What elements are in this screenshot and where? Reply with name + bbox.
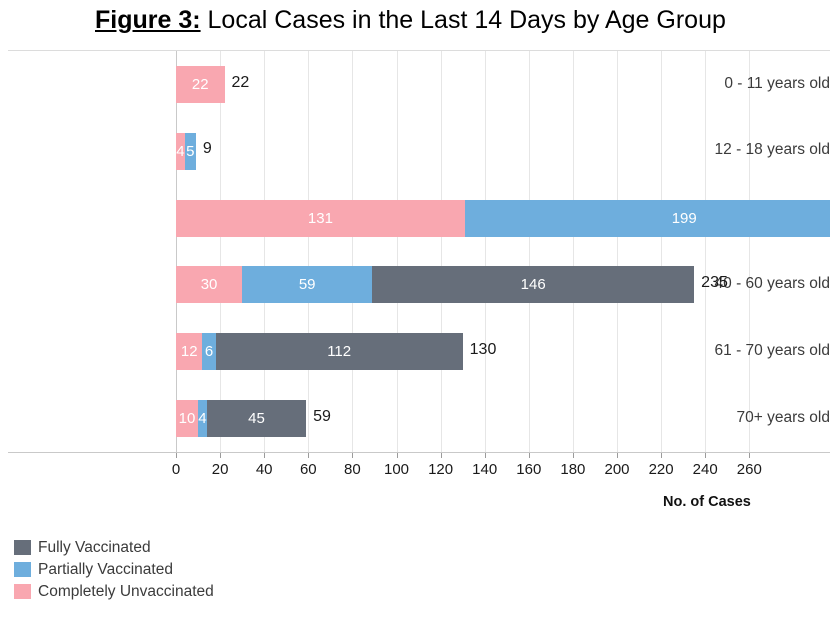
chart-title-figure-number: Figure 3:: [95, 6, 201, 34]
x-axis-line: [8, 452, 830, 453]
bar-segment-partially-vaccinated[interactable]: 4: [198, 400, 207, 437]
bar-segment-fully-vaccinated[interactable]: 112: [216, 333, 463, 370]
bar-segment-value-label: 146: [521, 276, 546, 293]
bar-segment-value-label: 131: [308, 210, 333, 227]
x-axis-tick: [705, 453, 706, 458]
gridline: [749, 51, 750, 452]
x-axis-tick-label: 20: [195, 461, 245, 478]
bar-segment-completely-unvaccinated[interactable]: 22: [176, 66, 225, 103]
x-axis-tick-label: 40: [239, 461, 289, 478]
legend-item-completely-unvaccinated[interactable]: Completely Unvaccinated: [14, 581, 214, 602]
x-axis-tick-label: 220: [636, 461, 686, 478]
x-axis-tick-label: 120: [416, 461, 466, 478]
bar-segment-completely-unvaccinated[interactable]: 12: [176, 333, 202, 370]
bar-segment-value-label: 112: [327, 343, 351, 360]
gridline: [308, 51, 309, 452]
bar-segment-value-label: 30: [201, 276, 218, 293]
x-axis-tick-label: 80: [327, 461, 377, 478]
chart-title: Figure 3: Local Cases in the Last 14 Day…: [95, 4, 830, 36]
bar-segment-value-label: 4: [176, 143, 184, 160]
x-axis-tick: [308, 453, 309, 458]
bar-segment-value-label: 199: [672, 210, 697, 227]
gridline: [264, 51, 265, 452]
legend-swatch-partially-vaccinated: [14, 562, 31, 577]
chart-figure: Figure 3: Local Cases in the Last 14 Day…: [0, 0, 830, 622]
x-axis-tick-label: 200: [592, 461, 642, 478]
x-axis-tick: [220, 453, 221, 458]
bar-segment-fully-vaccinated[interactable]: 45: [207, 400, 306, 437]
bar-segment-value-label: 59: [299, 276, 316, 293]
bar-segment-value-label: 6: [205, 343, 213, 360]
legend-label-completely-unvaccinated: Completely Unvaccinated: [38, 583, 214, 601]
bar-total-label: 59: [313, 408, 331, 426]
bar-row: 459: [0, 133, 830, 170]
bar-segment-fully-vaccinated[interactable]: 146: [372, 266, 694, 303]
x-axis-tick: [661, 453, 662, 458]
legend-swatch-fully-vaccinated: [14, 540, 31, 555]
x-axis-tick: [352, 453, 353, 458]
bar-segment-value-label: 4: [198, 410, 206, 427]
bar-total-label: 22: [232, 74, 250, 92]
bar-total-label: 235: [701, 274, 728, 292]
x-axis-tick: [749, 453, 750, 458]
bar-row: 3059146235: [0, 266, 830, 303]
bar-segment-completely-unvaccinated[interactable]: 131: [176, 200, 465, 237]
x-axis-tick-label: 100: [372, 461, 422, 478]
gridline: [573, 51, 574, 452]
gridline: [617, 51, 618, 452]
gridline: [441, 51, 442, 452]
chart-title-text: Local Cases in the Last 14 Days by Age G…: [201, 6, 726, 34]
gridline: [352, 51, 353, 452]
x-axis-tick: [397, 453, 398, 458]
bar-segment-value-label: 45: [248, 410, 265, 427]
bar-total-label: 130: [470, 341, 497, 359]
x-axis-tick-label: 140: [460, 461, 510, 478]
bar-segment-partially-vaccinated[interactable]: 5: [185, 133, 196, 170]
legend: Fully Vaccinated Partially Vaccinated Co…: [14, 537, 214, 603]
x-axis-tick-label: 60: [283, 461, 333, 478]
legend-label-partially-vaccinated: Partially Vaccinated: [38, 561, 173, 579]
bar-row: 1044559: [0, 400, 830, 437]
x-axis-tick-label: 160: [504, 461, 554, 478]
x-axis-tick: [176, 453, 177, 458]
bar-total-label: 9: [203, 140, 212, 158]
bar-row: 131199: [0, 200, 830, 237]
legend-swatch-completely-unvaccinated: [14, 584, 31, 599]
x-axis-title: No. of Cases: [663, 494, 751, 510]
bar-segment-completely-unvaccinated[interactable]: 30: [176, 266, 242, 303]
legend-item-fully-vaccinated[interactable]: Fully Vaccinated: [14, 537, 214, 558]
x-axis-tick: [485, 453, 486, 458]
bar-segment-value-label: 12: [181, 343, 198, 360]
gridline: [661, 51, 662, 452]
x-axis-tick: [264, 453, 265, 458]
x-axis-tick: [441, 453, 442, 458]
bar-segment-completely-unvaccinated[interactable]: 4: [176, 133, 185, 170]
x-axis-tick-label: 260: [724, 461, 774, 478]
legend-item-partially-vaccinated[interactable]: Partially Vaccinated: [14, 559, 214, 580]
bar-row: 2222: [0, 66, 830, 103]
gridline: [485, 51, 486, 452]
plot-top-rule: [8, 50, 830, 51]
gridline: [529, 51, 530, 452]
bar-segment-value-label: 10: [179, 410, 196, 427]
x-axis-tick-label: 0: [151, 461, 201, 478]
bar-segment-partially-vaccinated[interactable]: 6: [202, 333, 215, 370]
bar-segment-partially-vaccinated[interactable]: 59: [242, 266, 372, 303]
bar-segment-value-label: 22: [192, 76, 209, 93]
x-axis-tick: [573, 453, 574, 458]
legend-label-fully-vaccinated: Fully Vaccinated: [38, 539, 151, 557]
bar-segment-partially-vaccinated[interactable]: 199: [465, 200, 830, 237]
bar-row: 126112130: [0, 333, 830, 370]
x-axis-tick: [617, 453, 618, 458]
x-axis-tick-label: 240: [680, 461, 730, 478]
x-axis-tick-label: 180: [548, 461, 598, 478]
y-axis-line: [176, 51, 177, 452]
x-axis-tick: [529, 453, 530, 458]
gridline: [705, 51, 706, 452]
gridline: [220, 51, 221, 452]
gridline: [397, 51, 398, 452]
bar-segment-completely-unvaccinated[interactable]: 10: [176, 400, 198, 437]
bar-segment-value-label: 5: [186, 143, 194, 160]
